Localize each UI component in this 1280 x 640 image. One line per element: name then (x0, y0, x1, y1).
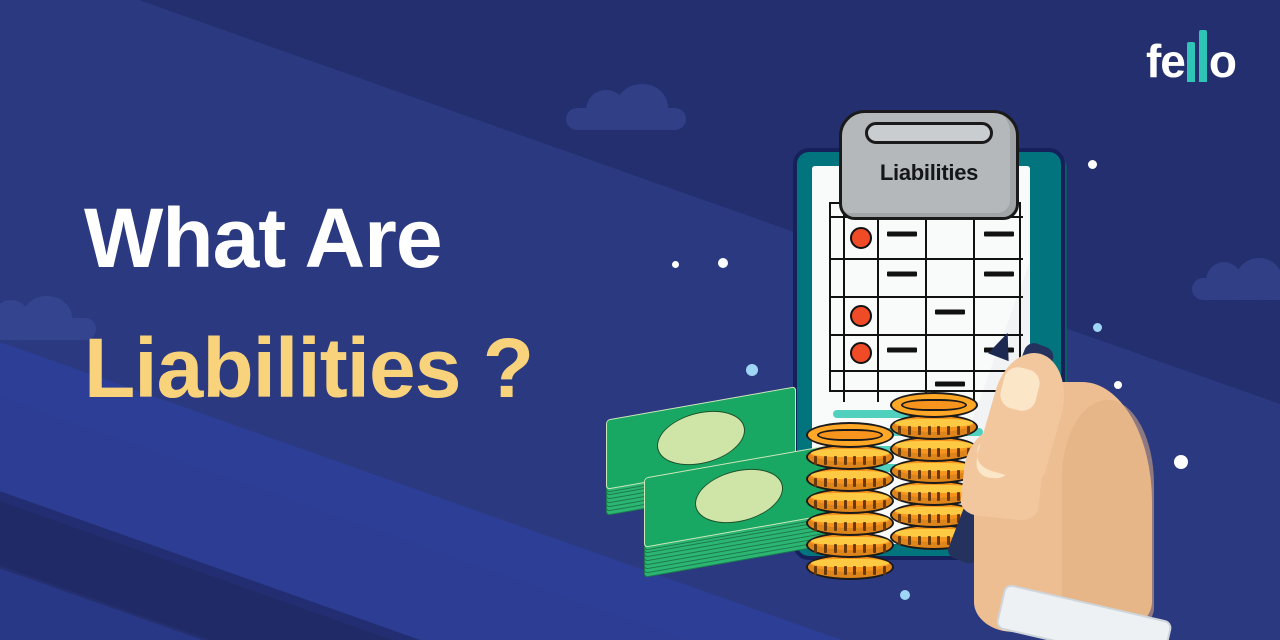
table-marker-dash (935, 310, 965, 315)
clip-slot (865, 122, 993, 144)
banknote-portrait-oval (695, 462, 783, 530)
clipboard-clip: Liabilities (839, 110, 1019, 220)
table-marker-dash (887, 347, 917, 352)
cloud-icon (566, 84, 686, 130)
table-marker-dash (984, 272, 1014, 277)
decor-dot-blue (746, 364, 758, 376)
poster-canvas: fe o What Are Liabilities ? (0, 0, 1280, 640)
decor-dot (1088, 160, 1097, 169)
table-marker-dash (887, 272, 917, 277)
page-title: What Are Liabilities ? (84, 196, 704, 410)
fello-logo[interactable]: fe o (1146, 28, 1236, 84)
pen-tip (988, 329, 1018, 361)
cloud-icon (0, 296, 96, 340)
table-marker-dash (887, 232, 917, 237)
palm-shade (1062, 400, 1154, 628)
logo-text-left: fe (1146, 38, 1185, 84)
clipboard-title: Liabilities (839, 160, 1019, 186)
decor-dot (718, 258, 728, 268)
banknote-stacks (598, 395, 828, 595)
table-marker-dot (850, 227, 872, 249)
cloud-icon (1192, 258, 1280, 300)
hand-holding-pen (952, 330, 1182, 640)
table-marker-dot (850, 342, 872, 364)
table-marker-dash (984, 232, 1014, 237)
logo-text-right: o (1209, 38, 1236, 84)
decor-dot-blue (900, 590, 910, 600)
headline-line-1: What Are (84, 196, 704, 280)
logo-bars-icon (1187, 30, 1207, 82)
table-marker-dot (850, 305, 872, 327)
